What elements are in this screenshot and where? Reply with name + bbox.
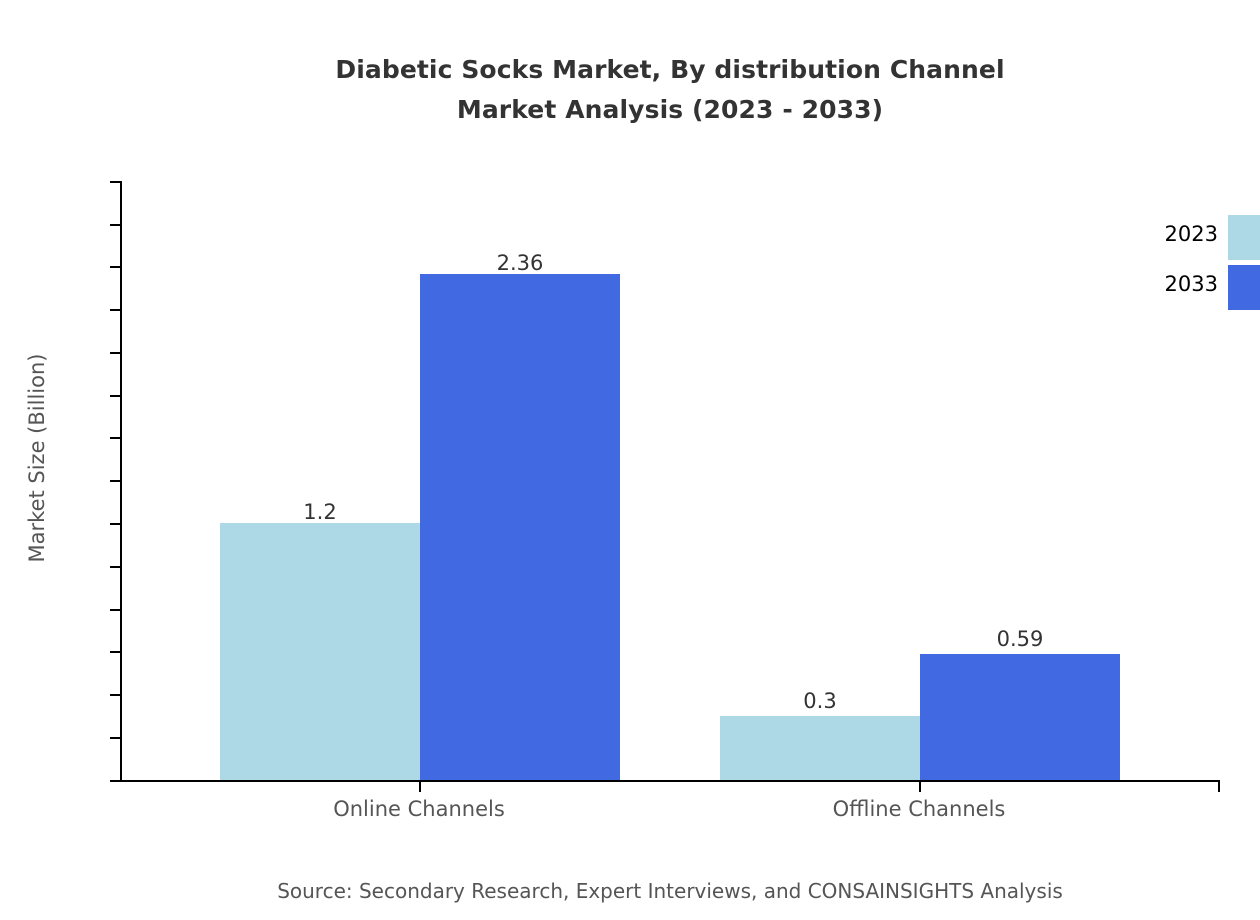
y-tick-3 bbox=[110, 651, 120, 653]
source-note: Source: Secondary Research, Expert Inter… bbox=[0, 878, 1260, 904]
legend-label-2033: 2033 bbox=[1165, 274, 1218, 295]
y-tick-10 bbox=[110, 352, 120, 354]
y-tick-0 bbox=[110, 780, 120, 782]
bar-2023-online[interactable] bbox=[220, 523, 420, 780]
x-tick-label-offline: Offline Channels bbox=[739, 796, 1099, 822]
y-tick-8 bbox=[110, 437, 120, 439]
y-tick-4 bbox=[110, 609, 120, 611]
y-tick-5 bbox=[110, 566, 120, 568]
chart-figure: Diabetic Socks Market, By distribution C… bbox=[0, 0, 1260, 920]
chart-title-line-1: Diabetic Socks Market, By distribution C… bbox=[0, 50, 1260, 90]
bar-2033-online[interactable] bbox=[420, 274, 620, 780]
x-tick-online bbox=[419, 782, 421, 792]
bar-2023-offline[interactable] bbox=[720, 716, 920, 780]
x-axis-line bbox=[120, 780, 1220, 782]
legend-item-2033[interactable]: 2033 bbox=[1120, 265, 1260, 315]
legend-swatch-2033 bbox=[1228, 265, 1260, 310]
bar-label-2023-offline: 0.3 bbox=[710, 691, 930, 712]
x-tick-offline bbox=[919, 782, 921, 792]
bar-label-2033-online: 2.36 bbox=[410, 253, 630, 274]
y-tick-13 bbox=[110, 224, 120, 226]
y-tick-7 bbox=[110, 480, 120, 482]
y-tick-11 bbox=[110, 309, 120, 311]
y-tick-14 bbox=[110, 181, 120, 183]
bar-label-2033-offline: 0.59 bbox=[910, 629, 1130, 650]
y-axis-line bbox=[120, 181, 122, 782]
chart-title: Diabetic Socks Market, By distribution C… bbox=[0, 50, 1260, 130]
y-axis-title: Market Size (Billion) bbox=[27, 258, 48, 658]
bar-label-2023-online: 1.2 bbox=[210, 502, 430, 523]
y-tick-1 bbox=[110, 737, 120, 739]
y-tick-9 bbox=[110, 395, 120, 397]
y-tick-12 bbox=[110, 266, 120, 268]
legend-swatch-2023 bbox=[1228, 215, 1260, 260]
plot-area: 0.0 0.2 0.4 0.6 0.8 1.0 1.2 1.4 1.6 1.8 … bbox=[120, 181, 1220, 781]
x-tick-label-online: Online Channels bbox=[239, 796, 599, 822]
chart-title-line-2: Market Analysis (2023 - 2033) bbox=[0, 90, 1260, 130]
y-tick-2 bbox=[110, 694, 120, 696]
bar-2033-offline[interactable] bbox=[920, 654, 1120, 780]
chart-legend: 2023 2033 bbox=[1120, 215, 1260, 315]
legend-item-2023[interactable]: 2023 bbox=[1120, 215, 1260, 265]
y-tick-6 bbox=[110, 523, 120, 525]
x-axis-end-tick bbox=[1218, 782, 1220, 792]
legend-label-2023: 2023 bbox=[1165, 224, 1218, 245]
